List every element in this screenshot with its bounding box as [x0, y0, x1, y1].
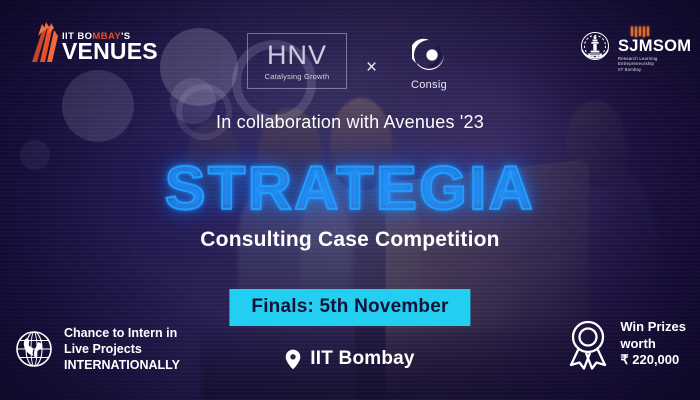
event-subtitle: Consulting Case Competition: [0, 228, 700, 252]
logo-separator-x: ×: [366, 58, 377, 77]
sjmsom-flame-icon: [618, 26, 690, 37]
consig-logo-name: Consig: [398, 79, 460, 91]
intern-badge-line1: Chance to Intern in: [64, 325, 180, 341]
sjmsom-logo-sub2: IIT Bombay: [618, 67, 690, 72]
event-title-wrapper: STRATEGIA: [0, 158, 700, 219]
prize-badge: Win Prizes worth ₹ 220,000: [565, 318, 686, 370]
intern-badge-line2: Live Projects: [64, 341, 180, 357]
award-ribbon-icon: [565, 318, 611, 370]
sjmsom-logo-name: SJMSOM: [618, 38, 690, 55]
intern-badge: Chance to Intern in Live Projects INTERN…: [14, 325, 180, 373]
sjmsom-logo-sub1: Research Learning Entrepreneurship: [618, 56, 690, 66]
hnv-logo: HNV Catalysing Growth: [247, 33, 347, 89]
avenues-logo: IIT BOMBAY'S VENUES: [24, 22, 158, 64]
hnv-logo-name: HNV: [267, 42, 327, 69]
iit-bombay-crest-icon: [576, 28, 614, 66]
consig-spiral-icon: [412, 38, 446, 72]
venue-name: IIT Bombay: [310, 348, 414, 370]
promotional-banner: IIT BOMBAY'S VENUES HNV Catalysing Growt…: [0, 0, 700, 400]
event-title: STRATEGIA: [165, 158, 535, 219]
avenues-logo-maintext: VENUES: [62, 41, 158, 63]
consig-logo: Consig: [398, 38, 460, 91]
prize-badge-line2: worth: [620, 336, 686, 353]
map-pin-icon: [285, 349, 301, 370]
prize-badge-line3: ₹ 220,000: [620, 352, 686, 369]
globe-icon: [14, 329, 54, 369]
intern-badge-line3: INTERNATIONALLY: [64, 357, 180, 373]
sjmsom-logo: SJMSOM Research Learning Entrepreneurshi…: [618, 26, 690, 72]
hnv-logo-tagline: Catalysing Growth: [265, 72, 330, 81]
prize-badge-line1: Win Prizes: [620, 319, 686, 336]
finals-date-banner: Finals: 5th November: [229, 289, 470, 326]
collaboration-text: In collaboration with Avenues '23: [0, 112, 700, 133]
